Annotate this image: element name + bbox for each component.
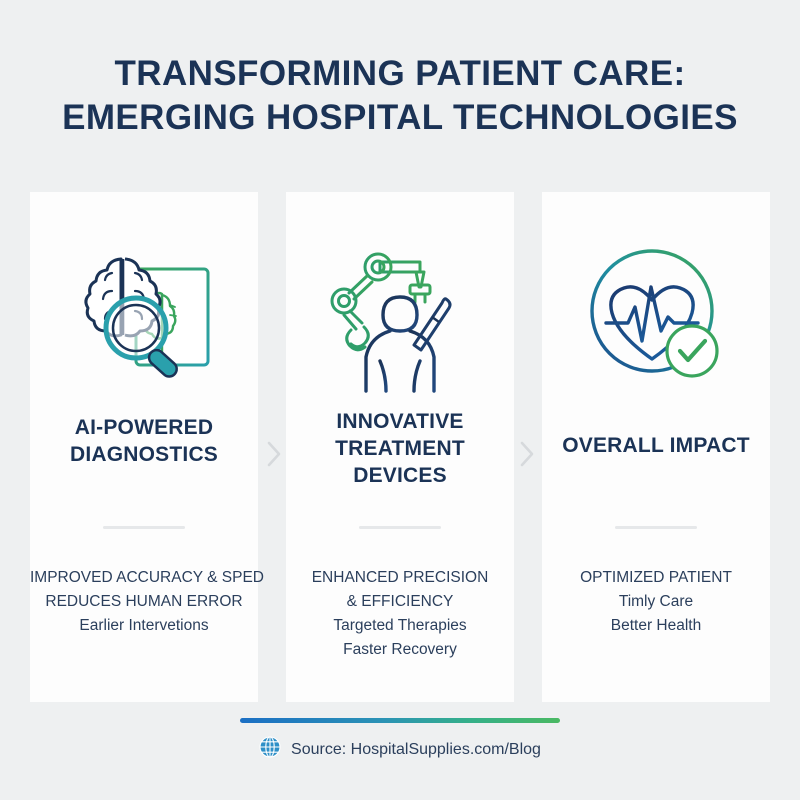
card-body: OPTIMIZED PATIENT Timly Care Better Heal… <box>542 566 770 638</box>
globe-icon <box>259 736 281 763</box>
cards-row: AI-POWERED DIAGNOSTICS IMPROVED ACCURACY… <box>30 192 770 702</box>
page-title-line-1: TRANSFORMING PATIENT CARE: <box>0 52 800 96</box>
card-heading-line-1: AI-POWERED <box>44 414 244 441</box>
card-innovative-treatment-devices[interactable]: INNOVATIVE TREATMENT DEVICES ENHANCED PR… <box>286 192 514 702</box>
card-body-line: Timly Care <box>542 590 770 614</box>
card-heading: INNOVATIVE TREATMENT DEVICES <box>300 408 500 489</box>
card-body-line: & EFFICIENCY <box>286 590 514 614</box>
card-heading-line-2: TREATMENT <box>300 435 500 462</box>
footer: Source: HospitalSupplies.com/Blog <box>0 718 800 763</box>
card-body-line: IMPROVED ACCURACY & SPED <box>30 566 258 590</box>
card-body-line: ENHANCED PRECISION <box>286 566 514 590</box>
card-ai-powered-diagnostics[interactable]: AI-POWERED DIAGNOSTICS IMPROVED ACCURACY… <box>30 192 258 702</box>
card-heading-line-2: DIAGNOSTICS <box>44 441 244 468</box>
card-body-line: Targeted Therapies <box>286 614 514 638</box>
card-heading: AI-POWERED DIAGNOSTICS <box>44 414 244 468</box>
card-overall-impact[interactable]: OVERALL IMPACT OPTIMIZED PATIENT Timly C… <box>542 192 770 702</box>
card-divider <box>359 526 441 529</box>
card-body-line: Earlier Intervetions <box>30 614 258 638</box>
card-body-line: OPTIMIZED PATIENT <box>542 566 770 590</box>
card-heading-line-1: INNOVATIVE <box>300 408 500 435</box>
robotic-surgery-arm-icon <box>315 230 485 400</box>
page-title: TRANSFORMING PATIENT CARE: EMERGING HOSP… <box>0 52 800 140</box>
card-heading: OVERALL IMPACT <box>556 432 756 459</box>
card-body: IMPROVED ACCURACY & SPED REDUCES HUMAN E… <box>30 566 258 638</box>
card-divider <box>103 526 185 529</box>
card-body: ENHANCED PRECISION & EFFICIENCY Targeted… <box>286 566 514 662</box>
card-heading-line-1: OVERALL IMPACT <box>556 432 756 459</box>
source-row: Source: HospitalSupplies.com/Blog <box>259 736 541 763</box>
card-heading-line-3: DEVICES <box>300 462 500 489</box>
brain-scan-magnifier-icon <box>59 230 229 400</box>
card-divider <box>615 526 697 529</box>
page-title-line-2: EMERGING HOSPITAL TECHNOLOGIES <box>0 96 800 140</box>
chevron-right-icon <box>265 440 283 468</box>
source-text[interactable]: Source: HospitalSupplies.com/Blog <box>291 741 541 759</box>
card-body-line: Better Health <box>542 614 770 638</box>
heart-pulse-check-icon <box>571 230 741 400</box>
card-body-line: REDUCES HUMAN ERROR <box>30 590 258 614</box>
footer-gradient-bar <box>240 718 560 723</box>
chevron-right-icon <box>518 440 536 468</box>
card-body-line: Faster Recovery <box>286 638 514 662</box>
